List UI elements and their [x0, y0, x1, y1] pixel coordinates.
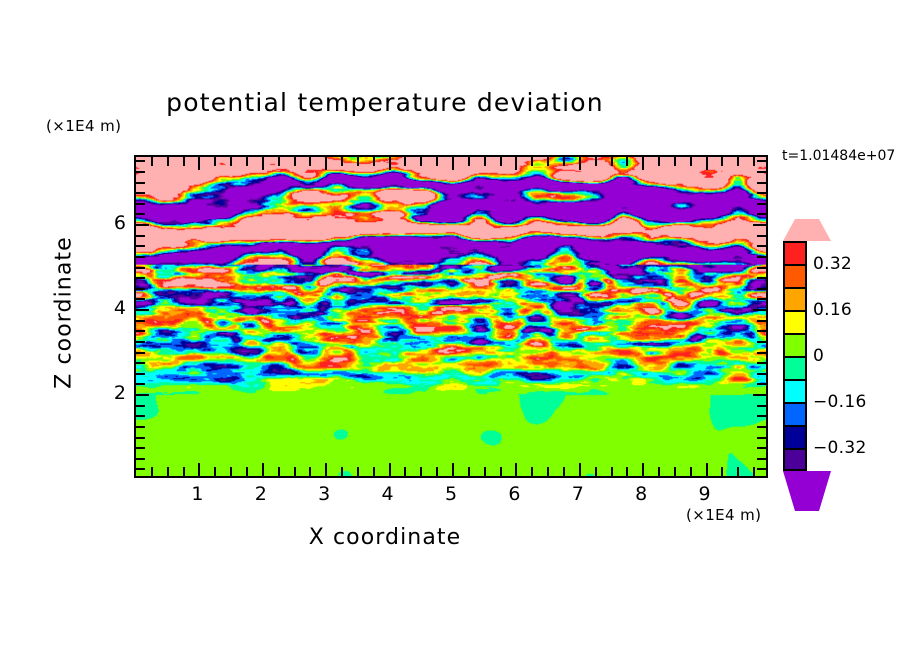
x-tick: [579, 463, 581, 476]
y-tick: [136, 362, 145, 364]
x-tick: [230, 467, 232, 476]
y-tick: [136, 458, 145, 460]
x-tick-top: [658, 157, 660, 166]
y-tick: [136, 298, 145, 300]
colorbar-band-1: [783, 264, 807, 287]
colorbar-band-6: [783, 379, 807, 402]
x-tick-top: [167, 157, 169, 166]
x-tick: [642, 463, 644, 476]
x-tick-top: [262, 157, 264, 170]
y-tick: [136, 426, 145, 428]
x-tick-top: [563, 157, 565, 166]
x-tick: [389, 463, 391, 476]
colorbar-band-0: [783, 241, 807, 264]
x-tick-top: [230, 157, 232, 166]
x-tick-top: [753, 157, 755, 166]
x-tick: [404, 467, 406, 476]
x-tick: [721, 467, 723, 476]
y-tick: [136, 405, 145, 407]
colorbar-label-0: 0.32: [813, 254, 852, 274]
y-tick-right: [757, 362, 766, 364]
y-tick-right: [757, 447, 766, 449]
y-tick: [136, 224, 149, 226]
y-tick-right: [757, 415, 766, 417]
colorbar-band-8: [783, 425, 807, 448]
y-tick-right: [757, 213, 766, 215]
x-tick-top: [721, 157, 723, 166]
x-tick-top: [389, 157, 391, 170]
x-tick-label: 6: [508, 483, 520, 505]
x-tick: [500, 467, 502, 476]
x-tick: [547, 467, 549, 476]
y-tick-right: [757, 288, 766, 290]
y-tick-right: [757, 437, 766, 439]
x-tick-label: 1: [191, 483, 203, 505]
x-axis-title: X coordinate: [0, 525, 770, 550]
y-tick: [136, 437, 145, 439]
x-tick-top: [420, 157, 422, 166]
y-tick: [136, 394, 149, 396]
x-tick-label: 5: [445, 483, 457, 505]
x-tick-top: [611, 157, 613, 166]
x-tick-top: [436, 157, 438, 166]
x-tick-top: [214, 157, 216, 166]
y-tick-right: [757, 171, 766, 173]
x-tick-top: [325, 157, 327, 170]
x-tick-top: [484, 157, 486, 166]
x-tick-label: 8: [635, 483, 647, 505]
z-axis-unit-label: (×1E4 m): [46, 117, 121, 135]
x-tick-top: [357, 157, 359, 166]
x-tick-label: 4: [382, 483, 394, 505]
time-annotation: t=1.01484e+07: [782, 148, 895, 164]
x-tick: [214, 467, 216, 476]
y-tick: [136, 468, 145, 470]
colorbar: 0.320.160−0.16−0.32: [783, 241, 807, 471]
y-tick-right: [757, 458, 766, 460]
y-tick-right: [757, 352, 766, 354]
x-axis-unit-label: (×1E4 m): [686, 506, 761, 524]
x-tick: [294, 467, 296, 476]
x-tick-top: [626, 157, 628, 166]
x-tick: [309, 467, 311, 476]
y-tick: [136, 267, 145, 269]
x-tick: [151, 467, 153, 476]
y-tick: [136, 309, 149, 311]
x-tick-top: [690, 157, 692, 166]
x-tick-top: [737, 157, 739, 166]
colorbar-under-cap: [783, 471, 831, 511]
colorbar-label-2: 0: [813, 346, 824, 366]
x-tick-top: [642, 157, 644, 170]
y-tick: [136, 373, 145, 375]
y-tick-label: 4: [96, 297, 126, 319]
x-tick: [515, 463, 517, 476]
y-tick: [136, 447, 145, 449]
x-tick-top: [294, 157, 296, 166]
colorbar-band-5: [783, 356, 807, 379]
x-tick-top: [341, 157, 343, 166]
x-tick-top: [468, 157, 470, 166]
y-tick: [136, 330, 145, 332]
x-tick: [373, 467, 375, 476]
x-tick: [341, 467, 343, 476]
x-tick-top: [531, 157, 533, 166]
y-tick-label: 6: [96, 212, 126, 234]
y-tick: [136, 192, 145, 194]
x-tick: [674, 467, 676, 476]
y-tick: [136, 288, 145, 290]
x-tick-top: [278, 157, 280, 166]
y-tick: [136, 341, 145, 343]
x-tick-label: 7: [572, 483, 584, 505]
x-tick-top: [373, 157, 375, 166]
y-axis-title: Z coordinate: [52, 203, 77, 423]
colorbar-band-2: [783, 287, 807, 310]
y-tick-right: [757, 256, 766, 258]
y-tick: [136, 277, 145, 279]
x-tick: [167, 467, 169, 476]
y-tick-right: [757, 203, 766, 205]
x-tick-top: [404, 157, 406, 166]
x-tick: [531, 467, 533, 476]
x-tick-label: 3: [318, 483, 330, 505]
x-tick: [198, 463, 200, 476]
y-tick-right: [757, 277, 766, 279]
x-tick-label: 9: [699, 483, 711, 505]
y-tick-right: [757, 160, 766, 162]
y-tick: [136, 320, 145, 322]
x-tick-top: [246, 157, 248, 166]
x-tick: [626, 467, 628, 476]
y-tick-right: [757, 405, 766, 407]
x-tick: [484, 467, 486, 476]
x-tick: [183, 467, 185, 476]
x-tick-top: [309, 157, 311, 166]
x-tick-top: [452, 157, 454, 170]
x-tick: [357, 467, 359, 476]
colorbar-over-cap: [783, 219, 831, 241]
x-tick-top: [515, 157, 517, 170]
contour-plot-area: [134, 155, 768, 478]
x-tick-label: 2: [255, 483, 267, 505]
y-tick: [136, 235, 145, 237]
x-tick-top: [706, 157, 708, 170]
colorbar-band-3: [783, 310, 807, 333]
x-tick-top: [198, 157, 200, 170]
y-tick-right: [757, 267, 766, 269]
x-tick: [595, 467, 597, 476]
y-tick: [136, 182, 145, 184]
x-tick-top: [579, 157, 581, 170]
colorbar-label-3: −0.16: [813, 392, 867, 412]
y-tick-label: 2: [96, 382, 126, 404]
y-tick-right: [757, 192, 766, 194]
y-tick-right: [757, 182, 766, 184]
y-tick-right: [757, 235, 766, 237]
x-tick-top: [183, 157, 185, 166]
y-tick: [136, 203, 145, 205]
y-tick-right: [753, 394, 766, 396]
x-tick: [325, 463, 327, 476]
x-tick: [658, 467, 660, 476]
y-tick: [136, 160, 145, 162]
scalar-field-heatmap: [136, 157, 766, 476]
x-tick: [737, 467, 739, 476]
figure-canvas: potential temperature deviation (×1E4 m)…: [0, 0, 904, 654]
y-tick: [136, 383, 145, 385]
y-tick: [136, 213, 145, 215]
y-tick-right: [757, 426, 766, 428]
y-tick-right: [757, 373, 766, 375]
colorbar-band-7: [783, 402, 807, 425]
y-tick-right: [757, 383, 766, 385]
y-tick-right: [757, 245, 766, 247]
x-tick: [690, 467, 692, 476]
y-tick-right: [757, 468, 766, 470]
page-title: potential temperature deviation: [0, 88, 770, 117]
y-tick-right: [753, 224, 766, 226]
y-tick: [136, 171, 145, 173]
x-tick: [468, 467, 470, 476]
colorbar-label-1: 0.16: [813, 300, 852, 320]
x-tick-top: [547, 157, 549, 166]
y-tick: [136, 245, 145, 247]
x-tick: [420, 467, 422, 476]
y-tick: [136, 415, 145, 417]
y-tick-right: [757, 320, 766, 322]
x-tick: [706, 463, 708, 476]
colorbar-band-9: [783, 448, 807, 471]
y-tick: [136, 352, 145, 354]
x-tick: [436, 467, 438, 476]
x-tick-top: [595, 157, 597, 166]
y-tick-right: [757, 298, 766, 300]
colorbar-label-4: −0.32: [813, 438, 867, 458]
x-tick: [611, 467, 613, 476]
y-tick-right: [757, 330, 766, 332]
x-tick: [278, 467, 280, 476]
y-tick-right: [753, 309, 766, 311]
x-tick: [262, 463, 264, 476]
x-tick-top: [674, 157, 676, 166]
x-tick: [246, 467, 248, 476]
x-tick: [753, 467, 755, 476]
y-tick: [136, 256, 145, 258]
y-tick-right: [757, 341, 766, 343]
x-tick: [563, 467, 565, 476]
x-tick: [452, 463, 454, 476]
colorbar-band-4: [783, 333, 807, 356]
x-tick-top: [500, 157, 502, 166]
x-tick-top: [151, 157, 153, 166]
